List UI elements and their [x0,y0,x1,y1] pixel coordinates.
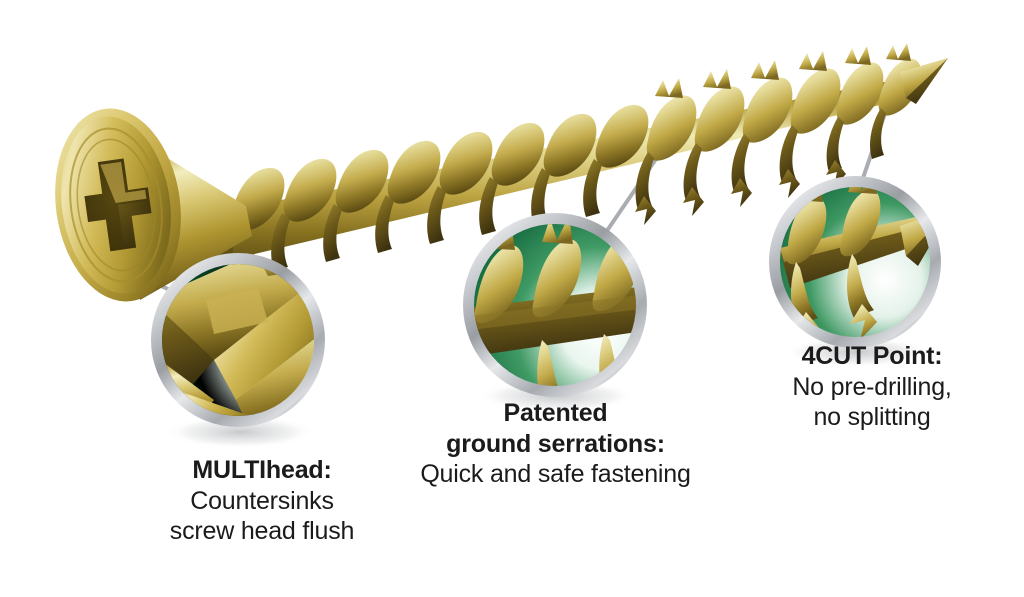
callout-serrations-headline-1: Patented [368,398,743,429]
callout-point-line-2: no splitting [742,402,1002,433]
callout-serrations-headline-2: ground serrations: [368,429,743,460]
callout-point-line-1: No pre-drilling, [742,372,1002,403]
callout-serrations: Patented ground serrations: Quick and sa… [368,398,743,490]
callout-point-headline: 4CUT Point: [742,341,1002,372]
callout-point: 4CUT Point: No pre-drilling, no splittin… [742,341,1002,433]
callout-multihead-headline: MULTIhead: [132,455,392,486]
screw-feature-diagram: MULTIhead: Countersinks screw head flush… [0,0,1024,597]
callout-serrations-line-1: Quick and safe fastening [368,459,743,490]
callout-multihead: MULTIhead: Countersinks screw head flush [132,455,392,547]
callout-multihead-line-2: screw head flush [132,516,392,547]
callout-multihead-line-1: Countersinks [132,486,392,517]
magnifier-point[interactable] [775,168,952,348]
